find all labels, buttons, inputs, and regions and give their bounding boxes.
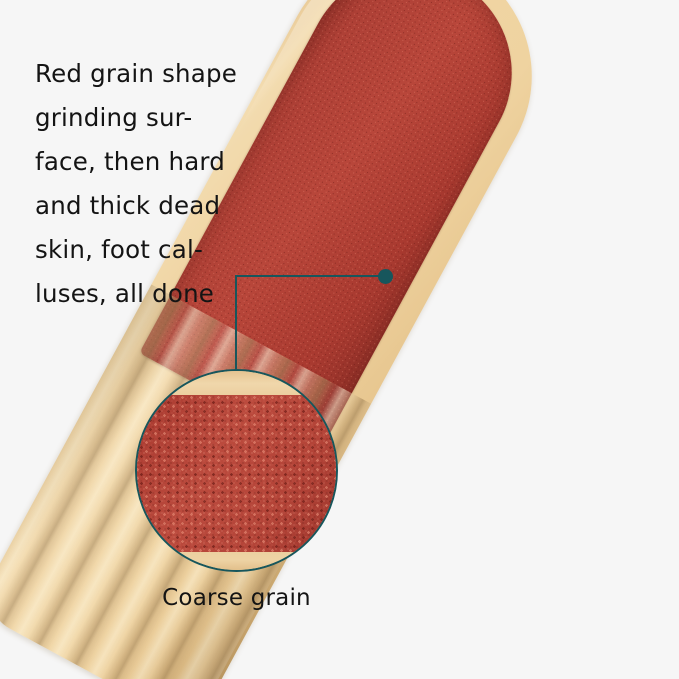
- callout-leader-horizontal: [236, 275, 386, 277]
- callout-dot: [378, 269, 393, 284]
- product-annotation-image: Red grain shape grinding sur- face, then…: [0, 0, 679, 679]
- callout-leader-vertical: [235, 275, 237, 371]
- magnifier-circle: [135, 369, 338, 572]
- magnified-wood-edge-top: [135, 369, 338, 395]
- magnified-wood-edge-bottom: [135, 552, 338, 572]
- magnifier-caption: Coarse grain: [135, 585, 338, 611]
- headline-text: Red grain shape grinding sur- face, then…: [35, 52, 250, 316]
- magnified-grain-texture: [135, 393, 338, 552]
